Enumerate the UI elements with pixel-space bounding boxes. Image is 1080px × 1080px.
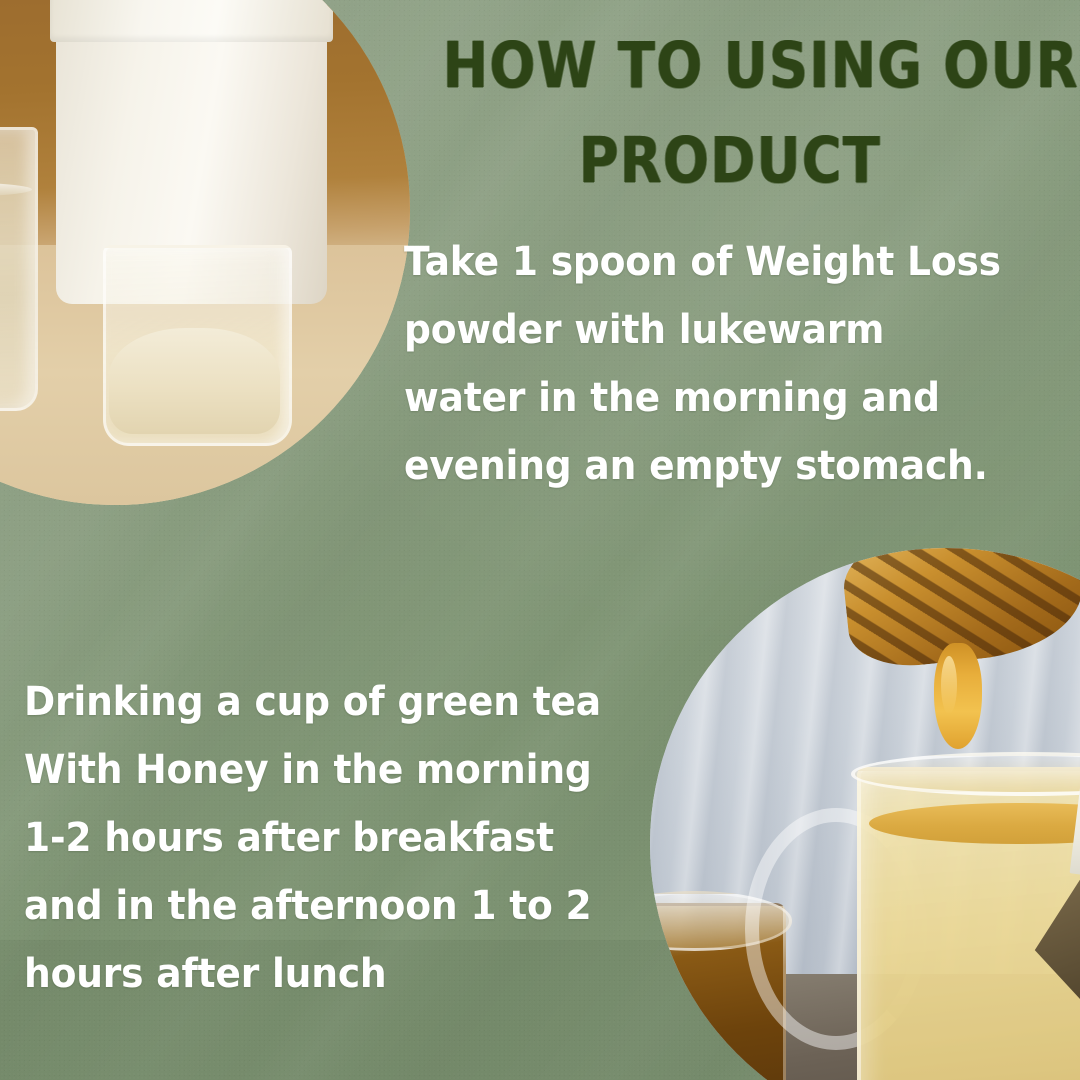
supplement-jar-lid (50, 0, 333, 42)
tea-line-2: With Honey in the morning (24, 736, 644, 804)
tea-line-3: 1-2 hours after breakfast (24, 804, 644, 872)
page-title-line-1: How to using our (443, 18, 1017, 113)
tea-instruction-text: Drinking a cup of green tea With Honey i… (24, 668, 644, 1008)
powder-fill (109, 328, 280, 434)
tea-line-5: hours after lunch (24, 940, 644, 1008)
usage-instruction-text: Take 1 spoon of Weight Loss powder with … (404, 228, 1043, 500)
honey-drip (934, 643, 981, 750)
page-title-line-2: Product (443, 113, 1017, 208)
tea-line-4: and in the afternoon 1 to 2 (24, 872, 644, 940)
tea-line-1: Drinking a cup of green tea (24, 668, 644, 736)
usage-line-1: Take 1 spoon of Weight Loss (404, 228, 1043, 296)
supplement-powder-photo (0, 0, 410, 505)
usage-line-2: powder with lukewarm (404, 296, 1043, 364)
green-tea-honey-photo (650, 548, 1080, 1080)
usage-line-4: evening an empty stomach. (404, 432, 1043, 500)
page-title: How to using our Product (443, 18, 1017, 208)
usage-line-3: water in the morning and (404, 364, 1043, 432)
water-glass (0, 127, 38, 410)
poster-canvas: How to using our Product Take 1 spoon of… (0, 0, 1080, 1080)
